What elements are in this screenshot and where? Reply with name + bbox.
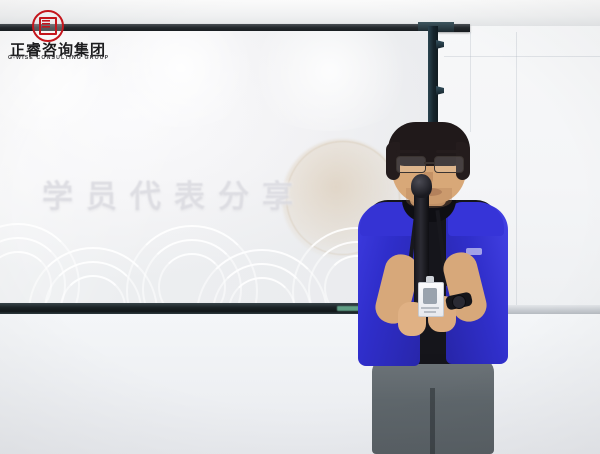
presenter-eyebrow-right [436, 150, 460, 153]
presenter-trouser-seam [430, 388, 435, 454]
watermark-english-name: G-WISE CONSULTING GROUP [8, 55, 108, 61]
presenter [336, 126, 528, 454]
id-badge-line [421, 307, 439, 309]
glasses-lens-right [434, 156, 464, 173]
wall-panel-line [470, 32, 471, 132]
id-badge-line [424, 311, 436, 313]
presenter-eyebrow-left [396, 150, 420, 153]
microphone-head [411, 174, 432, 198]
video-frame: 学员代表分享 [0, 0, 600, 454]
seal-glyph [42, 20, 50, 28]
glasses-icon [394, 156, 464, 172]
wrist-watch-face [452, 295, 466, 309]
glasses-lens-left [396, 156, 426, 173]
id-badge-photo [423, 288, 437, 304]
wall-panel-line [444, 56, 600, 57]
watermark-logo: 正睿咨询集团 G-WISE CONSULTING GROUP [6, 10, 110, 62]
glasses-bridge [424, 162, 434, 164]
